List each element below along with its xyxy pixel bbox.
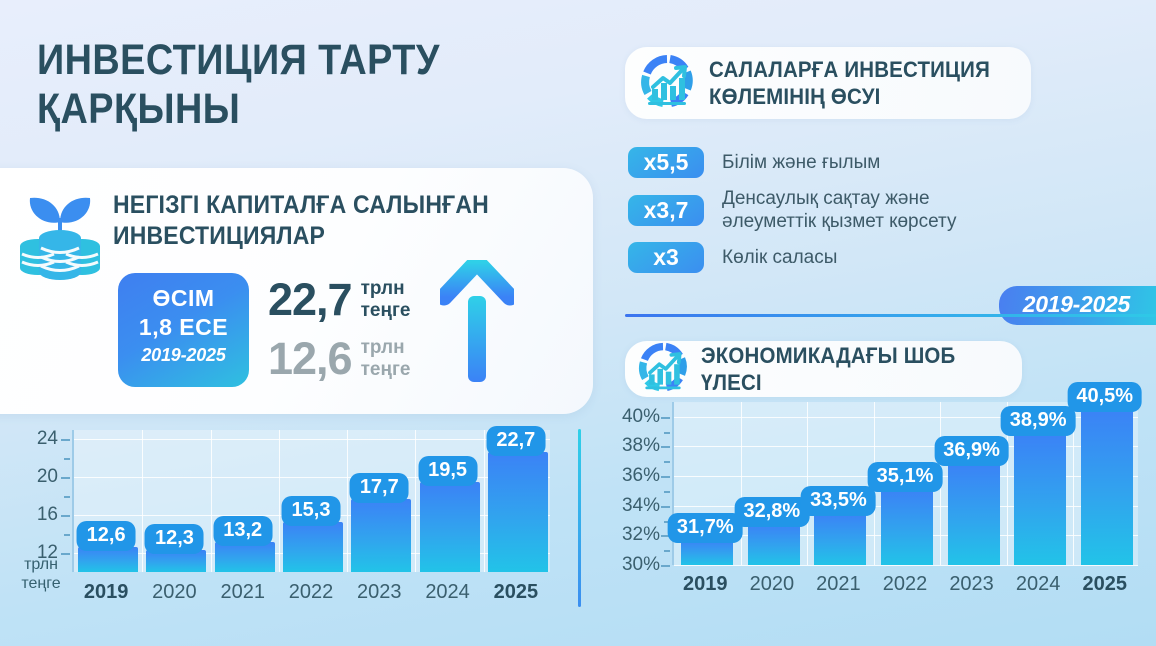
growth-badge-period: 2019-2025 xyxy=(118,342,249,368)
axis-tick-minor xyxy=(64,534,70,536)
x-axis-tick-label: 2023 xyxy=(345,581,413,604)
sme-header: ЭКОНОМИКАДАҒЫ ШОБ ҮЛЕСІ xyxy=(625,341,1022,397)
list-item: x3,7 Денсаулық сақтау және әлеуметтік қы… xyxy=(628,187,956,233)
axis-tick-minor xyxy=(64,458,70,460)
bar xyxy=(488,452,548,572)
axis-tick xyxy=(661,417,670,419)
x-axis-tick-label: 2020 xyxy=(140,581,208,604)
figure-current: 22,7 трлн теңге xyxy=(268,274,410,326)
axis-tick xyxy=(61,477,70,479)
x-axis-tick-label: 2019 xyxy=(672,573,739,596)
x-axis-tick-label: 2025 xyxy=(1071,573,1138,596)
axis-tick xyxy=(661,476,670,478)
bar-value-label: 12,3 xyxy=(145,524,204,554)
y-axis-tick-label: 32% xyxy=(602,524,660,546)
figure-current-value: 22,7 xyxy=(268,274,352,326)
bar xyxy=(283,522,343,572)
bar xyxy=(814,513,866,565)
up-arrow-icon xyxy=(440,260,514,387)
gridline xyxy=(279,430,280,572)
y-axis-tick-label: 12 xyxy=(12,542,58,564)
sector-multiplier-list: x5,5 Білім және ғылым x3,7 Денсаулық сақ… xyxy=(628,147,956,282)
gridline xyxy=(347,430,348,572)
growth-badge: ӨСІМ 1,8 ЕСЕ 2019-2025 xyxy=(118,273,249,387)
section-divider xyxy=(625,314,1156,317)
investment-bar-chart: трлн теңге 1216202412,6201912,3202013,22… xyxy=(0,424,578,639)
bar xyxy=(948,463,1000,565)
bar xyxy=(351,499,411,572)
growth-badge-value: 1,8 ЕСЕ xyxy=(118,312,249,342)
sme-heading: ЭКОНОМИКАДАҒЫ ШОБ ҮЛЕСІ xyxy=(701,342,1000,396)
y-axis-tick-label: 40% xyxy=(602,406,660,428)
list-item: x3 Көлік саласы xyxy=(628,242,956,273)
gridline xyxy=(807,402,808,565)
bar-value-label: 13,2 xyxy=(213,516,272,546)
x-axis-tick-label: 2022 xyxy=(872,573,939,596)
bar-value-label: 38,9% xyxy=(1001,406,1076,436)
bar-value-label: 19,5 xyxy=(418,456,477,486)
bar-value-label: 32,8% xyxy=(734,497,809,527)
bar xyxy=(1014,433,1066,565)
x-axis-tick-label: 2021 xyxy=(209,581,277,604)
sectors-heading: САЛАЛАРҒА ИНВЕСТИЦИЯ КӨЛЕМІНІҢ ӨСУІ xyxy=(709,56,990,110)
gridline xyxy=(74,477,550,478)
gridline xyxy=(674,565,1138,566)
y-axis-tick-label: 34% xyxy=(602,495,660,517)
panel-divider xyxy=(578,429,581,607)
bar xyxy=(1081,409,1133,565)
sectors-header: САЛАЛАРҒА ИНВЕСТИЦИЯ КӨЛЕМІНІҢ ӨСУІ xyxy=(625,47,1031,119)
axis-tick-minor xyxy=(664,491,670,493)
card-title: НЕГІЗГІ КАПИТАЛҒА САЛЫНҒАН ИНВЕСТИЦИЯЛАР xyxy=(113,190,518,252)
x-axis-tick-label: 2021 xyxy=(805,573,872,596)
sme-share-bar-chart: 30%32%34%36%38%40%31,7%201932,8%202033,5… xyxy=(600,390,1156,605)
figure-previous-value: 12,6 xyxy=(268,333,352,385)
y-axis-tick-label: 38% xyxy=(602,435,660,457)
axis-tick xyxy=(661,506,670,508)
figure-previous: 12,6 трлн теңге xyxy=(268,333,410,385)
axis-tick-minor xyxy=(64,496,70,498)
axis-tick-minor xyxy=(664,461,670,463)
gridline xyxy=(415,430,416,572)
sprout-coins-icon xyxy=(16,188,104,285)
period-badge: 2019-2025 xyxy=(999,286,1156,325)
y-axis-tick-label: 36% xyxy=(602,465,660,487)
x-axis-tick-label: 2022 xyxy=(277,581,345,604)
investment-card: НЕГІЗГІ КАПИТАЛҒА САЛЫНҒАН ИНВЕСТИЦИЯЛАР… xyxy=(0,168,593,414)
x-axis-tick-label: 2024 xyxy=(1005,573,1072,596)
multiplier-badge: x3 xyxy=(628,242,704,273)
axis-tick xyxy=(61,553,70,555)
x-axis-tick-label: 2020 xyxy=(739,573,806,596)
axis-tick xyxy=(61,515,70,517)
bar-value-label: 22,7 xyxy=(486,426,545,456)
x-axis-tick-label: 2023 xyxy=(938,573,1005,596)
bar-value-label: 15,3 xyxy=(282,496,341,526)
x-axis-tick-label: 2025 xyxy=(482,581,550,604)
bar-value-label: 17,7 xyxy=(350,473,409,503)
sector-label: Көлік саласы xyxy=(722,246,837,269)
bar xyxy=(681,540,733,565)
gridline xyxy=(211,430,212,572)
sector-label: Денсаулық сақтау және әлеуметтік қызмет … xyxy=(722,187,956,233)
donut-bar-chart-icon xyxy=(637,341,689,398)
bar-value-label: 33,5% xyxy=(801,486,876,516)
axis-tick xyxy=(61,439,70,441)
bar-value-label: 40,5% xyxy=(1067,382,1142,412)
growth-badge-label: ӨСІМ xyxy=(118,284,249,312)
x-axis-tick-label: 2024 xyxy=(413,581,481,604)
gridline xyxy=(484,430,485,572)
sector-label: Білім және ғылым xyxy=(722,151,880,174)
bar-value-label: 12,6 xyxy=(77,521,136,551)
gridline xyxy=(142,430,143,572)
figure-current-unit: трлн теңге xyxy=(361,278,411,322)
x-axis-tick-label: 2019 xyxy=(72,581,140,604)
bar-value-label: 31,7% xyxy=(668,513,743,543)
donut-bar-chart-icon xyxy=(639,53,695,114)
axis-tick xyxy=(661,446,670,448)
multiplier-badge: x3,7 xyxy=(628,195,704,226)
axis-tick-minor xyxy=(664,432,670,434)
bar xyxy=(215,542,275,572)
multiplier-badge: x5,5 xyxy=(628,147,704,178)
y-axis-tick-label: 16 xyxy=(12,504,58,526)
list-item: x5,5 Білім және ғылым xyxy=(628,147,956,178)
figure-previous-unit: трлн теңге xyxy=(361,337,411,381)
gridline xyxy=(741,402,742,565)
axis-tick-minor xyxy=(664,550,670,552)
bar-value-label: 35,1% xyxy=(868,462,943,492)
y-axis-tick-label: 24 xyxy=(12,428,58,450)
y-axis-tick-label: 30% xyxy=(602,554,660,576)
gridline xyxy=(74,439,550,440)
y-axis-tick-label: 20 xyxy=(12,466,58,488)
gridline xyxy=(674,446,1138,447)
bar xyxy=(420,482,480,572)
page-title: ИНВЕСТИЦИЯ ТАРТУ ҚАРҚЫНЫ xyxy=(37,36,440,134)
axis-tick xyxy=(661,565,670,567)
bar xyxy=(881,489,933,565)
bar xyxy=(748,524,800,565)
bar-value-label: 36,9% xyxy=(934,436,1009,466)
